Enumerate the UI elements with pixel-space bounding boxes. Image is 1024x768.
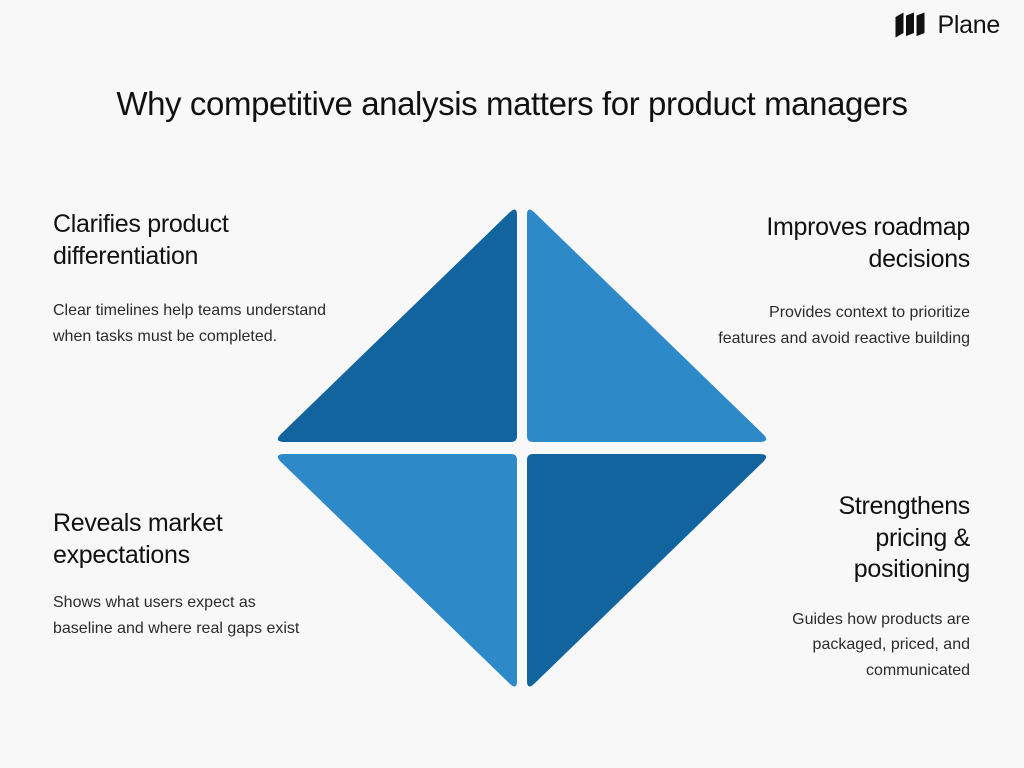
quadrant-heading: Reveals market expectations bbox=[53, 508, 353, 571]
quadrant-body: Clear timelines help teams understand wh… bbox=[53, 298, 339, 350]
quadrant-text-bottom-left: Reveals market expectations Shows what u… bbox=[53, 508, 353, 642]
quadrant-heading: Strengthens pricing & positioning bbox=[799, 491, 970, 586]
plane-layers-icon bbox=[895, 12, 929, 38]
page-title: Why competitive analysis matters for pro… bbox=[0, 85, 1024, 123]
quadrant-text-bottom-right: Strengthens pricing & positioning Guides… bbox=[670, 491, 970, 684]
quadrant-body: Guides how products are packaged, priced… bbox=[737, 607, 970, 685]
quadrant-body: Provides context to prioritize features … bbox=[718, 300, 970, 352]
infographic-slide: Plane Why competitive analysis matters f… bbox=[0, 0, 1024, 768]
quadrant-heading: Improves roadmap decisions bbox=[721, 212, 970, 275]
quadrant-body: Shows what users expect as baseline and … bbox=[53, 590, 309, 642]
quadrant-text-top-right: Improves roadmap decisions Provides cont… bbox=[670, 212, 970, 352]
brand-name: Plane bbox=[938, 13, 1000, 38]
brand-logo: Plane bbox=[895, 12, 1000, 38]
quadrant-text-top-left: Clarifies product differentiation Clear … bbox=[53, 209, 353, 350]
quadrant-heading: Clarifies product differentiation bbox=[53, 209, 353, 272]
